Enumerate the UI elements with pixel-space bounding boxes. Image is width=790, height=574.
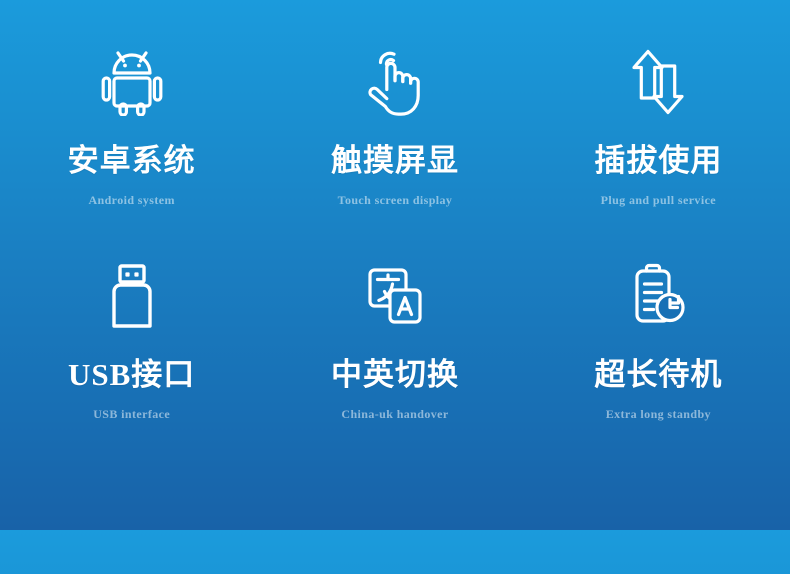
feature-subtitle: Extra long standby xyxy=(606,407,711,422)
feature-card-android-system: 安卓系统 Android system xyxy=(0,44,263,258)
android-robot-icon xyxy=(101,44,163,120)
up-down-arrows-icon xyxy=(629,44,687,120)
feature-subtitle: China-uk handover xyxy=(341,407,448,422)
feature-title: 超长待机 xyxy=(594,356,722,394)
feature-card-usb-interface: USB接口 USB interface xyxy=(0,258,263,472)
feature-grid: 安卓系统 Android system 触摸屏显 Touch screen di… xyxy=(0,0,790,530)
bottom-spacer xyxy=(527,472,790,574)
feature-card-plug-pull: 插拔使用 Plug and pull service xyxy=(527,44,790,258)
feature-card-language-switch: 中英切换 China-uk handover xyxy=(263,258,526,472)
feature-subtitle: Touch screen display xyxy=(338,193,453,208)
touch-hand-icon xyxy=(364,44,426,120)
feature-subtitle: Android system xyxy=(88,193,174,208)
feature-card-touch-screen: 触摸屏显 Touch screen display xyxy=(263,44,526,258)
feature-card-long-standby: 超长待机 Extra long standby xyxy=(527,258,790,472)
feature-title: 安卓系统 xyxy=(68,142,196,180)
feature-subtitle: Plug and pull service xyxy=(601,193,716,208)
feature-title: 中英切换 xyxy=(331,356,459,394)
translate-language-icon xyxy=(364,258,426,334)
usb-connector-icon xyxy=(105,258,159,334)
bottom-spacer xyxy=(0,472,263,574)
feature-subtitle: USB interface xyxy=(93,407,170,422)
feature-title: USB接口 xyxy=(68,356,195,394)
feature-title: 触摸屏显 xyxy=(331,142,459,180)
bottom-spacer xyxy=(263,472,526,574)
battery-clock-icon xyxy=(628,258,688,334)
feature-title: 插拔使用 xyxy=(594,142,722,180)
